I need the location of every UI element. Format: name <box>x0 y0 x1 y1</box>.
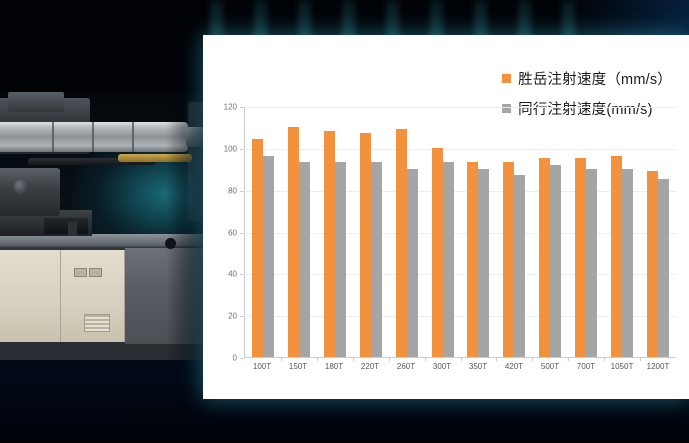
y-tick-20 <box>240 316 244 317</box>
x-tick-1200T <box>640 357 641 361</box>
bar-220T-series0[interactable] <box>360 133 371 357</box>
y-tick-120 <box>240 107 244 108</box>
x-axis-label-300T: 300T <box>424 362 460 371</box>
bar-series-container <box>245 107 676 357</box>
x-tick-260T <box>389 357 390 361</box>
machine-top-housing <box>8 92 64 112</box>
machine-cabinet-left <box>0 250 61 342</box>
injection-molding-machine-photo <box>0 92 212 360</box>
bar-1200T-series0[interactable] <box>647 171 658 357</box>
chart-panel: 胜岳注射速度（mm/s） 同行注射速度(mm/s) 02040608010012… <box>203 35 689 399</box>
bar-1050T-series1[interactable] <box>622 169 633 357</box>
bar-group-150T <box>281 107 317 357</box>
x-tick-420T <box>496 357 497 361</box>
legend-label-0: 胜岳注射速度（mm/s） <box>518 68 672 89</box>
machine-small-block <box>68 222 77 236</box>
x-axis-label-420T: 420T <box>496 362 532 371</box>
x-axis-label-1200T: 1200T <box>640 362 676 371</box>
y-tick-0 <box>240 358 244 359</box>
x-axis-label-220T: 220T <box>352 362 388 371</box>
x-axis-labels: 100T150T180T220T260T300T350T420T500T700T… <box>244 362 676 371</box>
bar-180T-series1[interactable] <box>335 162 346 357</box>
legend-item-0[interactable]: 胜岳注射速度（mm/s） <box>502 68 672 89</box>
control-switch-1 <box>74 268 87 277</box>
bar-700T-series0[interactable] <box>575 158 586 357</box>
bar-260T-series0[interactable] <box>396 129 407 357</box>
x-axis-label-700T: 700T <box>568 362 604 371</box>
barrel-seam-2 <box>92 122 94 152</box>
bar-group-700T <box>568 107 604 357</box>
bar-180T-series0[interactable] <box>324 131 335 357</box>
machine-injection-barrel <box>0 122 188 152</box>
x-tick-220T <box>353 357 354 361</box>
bar-420T-series1[interactable] <box>514 175 525 357</box>
bar-group-100T <box>245 107 281 357</box>
x-tick-350T <box>461 357 462 361</box>
x-axis-label-100T: 100T <box>244 362 280 371</box>
bar-220T-series1[interactable] <box>371 162 382 357</box>
bar-group-1050T <box>604 107 640 357</box>
x-tick-180T <box>317 357 318 361</box>
bar-group-420T <box>496 107 532 357</box>
y-tick-80 <box>240 191 244 192</box>
x-tick-150T <box>281 357 282 361</box>
bar-group-260T <box>389 107 425 357</box>
bar-group-350T <box>461 107 497 357</box>
screenshot-stage: 胜岳注射速度（mm/s） 同行注射速度(mm/s) 02040608010012… <box>0 0 689 443</box>
cabinet-vent-grille <box>84 314 110 332</box>
barrel-seam-3 <box>132 122 134 152</box>
bar-500T-series1[interactable] <box>550 165 561 357</box>
bar-500T-series0[interactable] <box>539 158 550 357</box>
y-axis-label-40: 40 <box>228 270 237 279</box>
bar-350T-series0[interactable] <box>467 162 478 357</box>
machine-motor-housing <box>0 168 60 216</box>
bar-300T-series1[interactable] <box>443 162 454 357</box>
y-axis-label-80: 80 <box>228 186 237 195</box>
y-tick-60 <box>240 233 244 234</box>
bar-150T-series0[interactable] <box>288 127 299 357</box>
legend-swatch-icon-0 <box>502 74 511 83</box>
bar-group-180T <box>317 107 353 357</box>
y-axis-label-60: 60 <box>228 228 237 237</box>
x-axis-label-150T: 150T <box>280 362 316 371</box>
x-axis-label-500T: 500T <box>532 362 568 371</box>
y-axis-label-100: 100 <box>224 144 237 153</box>
y-axis-label-120: 120 <box>224 103 237 112</box>
bar-group-1200T <box>640 107 676 357</box>
y-axis-label-20: 20 <box>228 312 237 321</box>
barrel-seam-1 <box>52 122 54 152</box>
x-axis-label-180T: 180T <box>316 362 352 371</box>
x-tick-300T <box>425 357 426 361</box>
y-axis-label-0: 0 <box>233 354 237 363</box>
bar-350T-series1[interactable] <box>478 169 489 357</box>
bar-1200T-series1[interactable] <box>658 179 669 357</box>
control-switch-2 <box>89 268 102 277</box>
bar-100T-series1[interactable] <box>263 156 274 357</box>
bar-100T-series0[interactable] <box>252 139 263 357</box>
bar-700T-series1[interactable] <box>586 169 597 357</box>
bar-group-500T <box>532 107 568 357</box>
x-axis-label-350T: 350T <box>460 362 496 371</box>
bar-1050T-series0[interactable] <box>611 156 622 357</box>
x-tick-500T <box>532 357 533 361</box>
bar-group-220T <box>353 107 389 357</box>
bar-group-300T <box>425 107 461 357</box>
x-axis-label-260T: 260T <box>388 362 424 371</box>
motor-face-circle <box>14 180 28 194</box>
x-tick-700T <box>568 357 569 361</box>
bar-260T-series1[interactable] <box>407 169 418 357</box>
machine-linear-rail <box>44 218 88 234</box>
x-tick-1050T <box>604 357 605 361</box>
y-tick-100 <box>240 149 244 150</box>
x-axis-label-1050T: 1050T <box>604 362 640 371</box>
bar-150T-series1[interactable] <box>299 162 310 357</box>
bar-420T-series0[interactable] <box>503 162 514 357</box>
chart-plot-area: 020406080100120 <box>244 107 676 358</box>
bar-300T-series0[interactable] <box>432 148 443 357</box>
y-tick-40 <box>240 274 244 275</box>
